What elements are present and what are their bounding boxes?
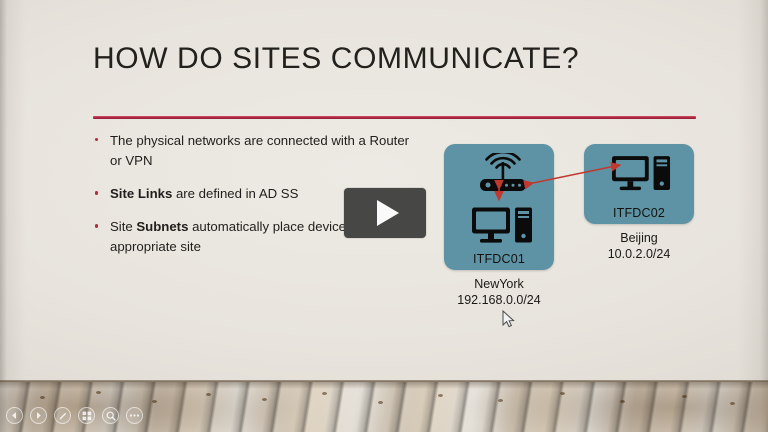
bullet-text: Site Links are defined in AD SS — [110, 186, 298, 201]
site-caption-beijing: Beijing 10.0.2.0/24 — [564, 230, 714, 263]
site-name-beijing: Beijing — [564, 230, 714, 246]
magnifier-icon — [106, 411, 116, 421]
bullet-dot-icon — [95, 138, 98, 141]
bullet-dot-icon — [95, 224, 98, 227]
more-options-button[interactable] — [126, 407, 143, 424]
site-caption-newyork: NewYork 192.168.0.0/24 — [424, 276, 574, 309]
next-slide-button[interactable] — [30, 407, 47, 424]
desktop-computer-icon — [471, 206, 533, 246]
site-box-newyork: ITFDC01 — [444, 144, 554, 270]
title-underline-rule — [93, 116, 696, 119]
mouse-cursor — [502, 310, 515, 328]
bullet-text: Site Subnets automatically place devices… — [110, 219, 367, 254]
node-label-itfdc01: ITFDC01 — [444, 252, 554, 266]
slide-title: HOW DO SITES COMMUNICATE? — [93, 42, 579, 76]
pen-tool-button[interactable] — [54, 407, 71, 424]
bullet-dot-icon — [95, 191, 98, 194]
chevron-left-icon — [10, 411, 19, 420]
play-triangle-icon — [377, 200, 399, 226]
wireless-router-icon — [475, 153, 531, 195]
presentation-slide: HOW DO SITES COMMUNICATE? The physical n… — [0, 0, 768, 432]
network-diagram: ITFDC01 ITFDC02 — [440, 138, 740, 328]
bullet-text: The physical networks are connected with… — [110, 133, 409, 168]
desktop-computer-icon — [611, 154, 671, 194]
video-play-button[interactable] — [344, 188, 426, 238]
site-subnet-beijing: 10.0.2.0/24 — [564, 246, 714, 262]
chevron-right-icon — [34, 411, 43, 420]
presenter-toolbar[interactable] — [6, 407, 143, 424]
bullet-item: The physical networks are connected with… — [93, 131, 413, 171]
ellipsis-icon — [129, 413, 140, 418]
previous-slide-button[interactable] — [6, 407, 23, 424]
all-slides-button[interactable] — [78, 407, 95, 424]
node-label-itfdc02: ITFDC02 — [584, 206, 694, 220]
zoom-button[interactable] — [102, 407, 119, 424]
grid-icon — [82, 411, 92, 421]
site-box-beijing: ITFDC02 — [584, 144, 694, 224]
site-name-newyork: NewYork — [424, 276, 574, 292]
site-subnet-newyork: 192.168.0.0/24 — [424, 292, 574, 308]
pen-icon — [58, 411, 68, 421]
